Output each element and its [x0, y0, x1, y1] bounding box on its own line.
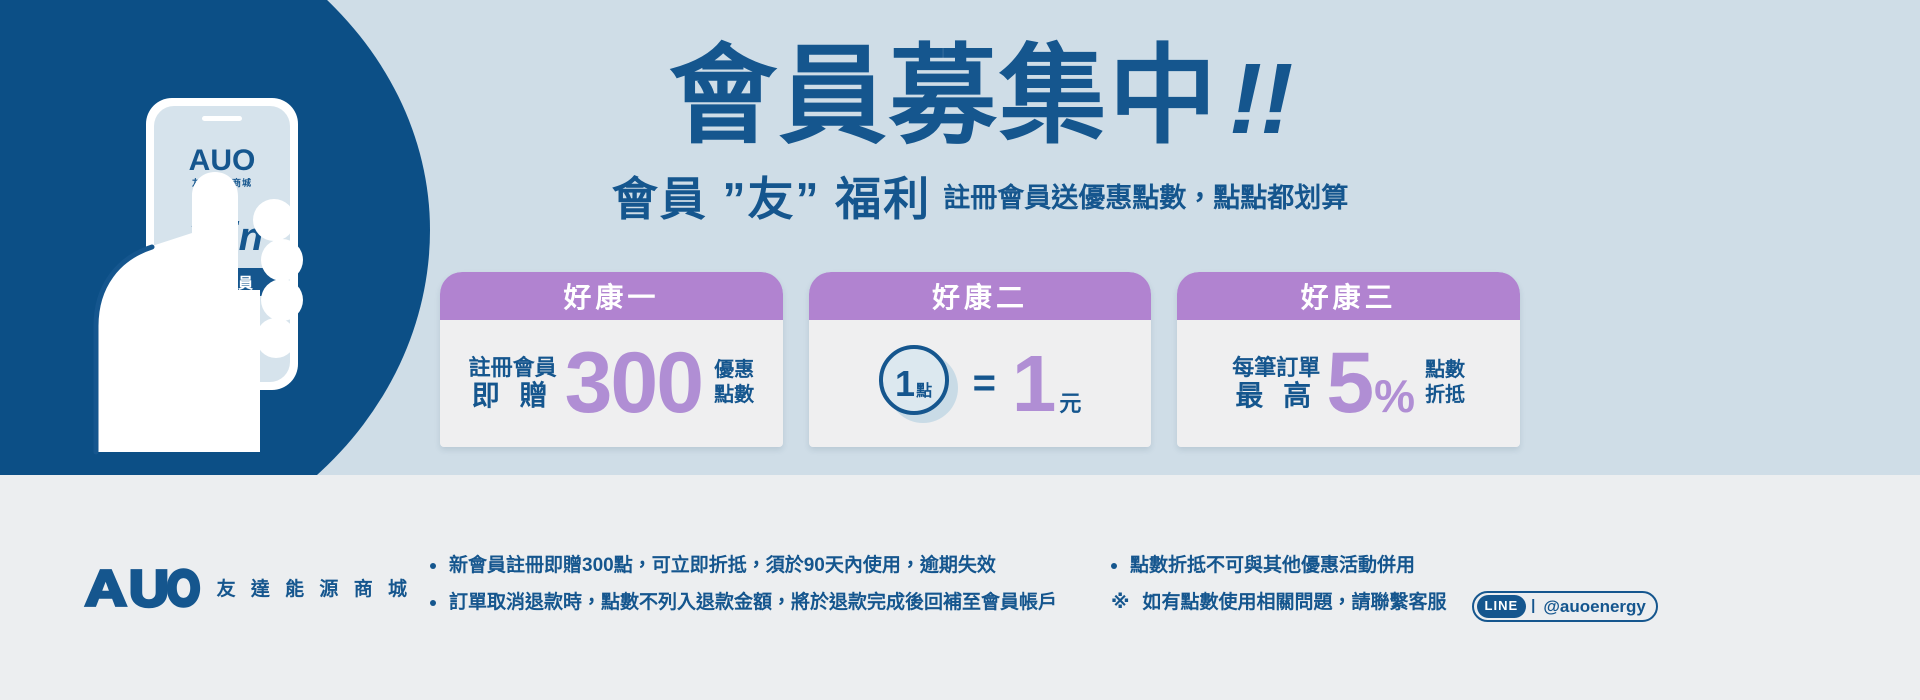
benefit-card-3-label-line2: 最 高: [1232, 380, 1320, 411]
benefit-card-2-value: 1: [1012, 348, 1057, 420]
line-account-id: @auoenergy: [1543, 596, 1646, 617]
benefit-card-3-header: 好康三: [1177, 272, 1520, 320]
subheadline-detail: 註冊會員送優惠點數，點點都划算: [943, 183, 1348, 213]
footer-note-text: 新會員註冊即贈300點，可立即折抵，須於90天內使用，逾期失效: [449, 554, 996, 578]
benefit-card-3-label-line1: 每筆訂單: [1232, 356, 1320, 381]
benefit-card-3-suffix-line2: 折抵: [1425, 383, 1465, 408]
footer-note-item: 訂單取消退款時，點數不列入退款金額，將於退款完成後回補至會員帳戶: [430, 591, 1057, 615]
auo-logo-icon: [82, 565, 201, 611]
footer-note-text: 訂單取消退款時，點數不列入退款金額，將於退款完成後回補至會員帳戶: [449, 591, 1057, 615]
bullet-dot-icon: [430, 600, 436, 606]
benefit-card-2-coin-number: 1: [895, 366, 915, 402]
footer-note-item: 點數折抵不可與其他優惠活動併用: [1111, 554, 1658, 578]
page-title: 會員募集中!!: [560, 38, 1400, 155]
headline-block: 會員募集中!! 會員 ”友” 福利註冊會員送優惠點數，點點都划算: [560, 38, 1400, 229]
subheadline-main: 會員 ”友” 福利: [612, 173, 932, 225]
benefit-card-2-equals: =: [973, 361, 996, 406]
point-coin-icon: 1 點: [879, 345, 957, 423]
benefit-card-1-suffix-line2: 點數: [714, 383, 754, 408]
benefit-card-1-number: 300: [565, 344, 703, 423]
headline-exclamation: !!: [1229, 43, 1292, 155]
headline-text: 會員募集中: [669, 35, 1219, 156]
benefit-card-3-suffix-line1: 點數: [1425, 358, 1465, 383]
brand-name: 友 達 能 源 商 城: [217, 574, 412, 601]
footer-note-text: 如有點數使用相關問題，請聯繫客服: [1143, 591, 1447, 615]
benefit-card-3-body: 每筆訂單 最 高 5 % 點數 折抵: [1177, 320, 1520, 447]
bullet-dot-icon: [430, 563, 436, 569]
line-separator: |: [1531, 597, 1535, 616]
subheadline: 會員 ”友” 福利註冊會員送優惠點數，點點都划算: [560, 163, 1400, 229]
benefit-card-1-header: 好康一: [440, 272, 783, 320]
benefit-card-1-suffix: 優惠 點數: [714, 358, 754, 408]
footer-note-item: ※ 如有點數使用相關問題，請聯繫客服 LINE | @auoenergy: [1111, 591, 1658, 621]
benefit-card-2: 好康二 1 點 = 1 元: [809, 272, 1152, 447]
footer-notes-left: 新會員註冊即贈300點，可立即折抵，須於90天內使用，逾期失效 訂單取消退款時，…: [430, 554, 1057, 622]
benefit-cards: 好康一 註冊會員 即 贈 300 優惠 點數 好康二: [440, 272, 1520, 447]
brand-logo: 友 達 能 源 商 城: [82, 565, 412, 611]
benefit-card-1-label-line2: 即 贈: [469, 380, 557, 411]
benefit-card-1: 好康一 註冊會員 即 贈 300 優惠 點數: [440, 272, 783, 447]
line-contact-badge[interactable]: LINE | @auoenergy: [1472, 591, 1658, 621]
footer-note-text: 點數折抵不可與其他優惠活動併用: [1130, 554, 1415, 578]
promo-banner: AUO 友達能源商城 Join 加入會員 會員募集中!! 會員 ”友” 福利註冊…: [0, 0, 1920, 700]
benefit-card-1-suffix-line1: 優惠: [714, 358, 754, 383]
benefit-card-1-label: 註冊會員 即 贈: [469, 356, 557, 412]
benefit-card-3-suffix: 點數 折抵: [1425, 358, 1465, 408]
footer-note-item: 新會員註冊即贈300點，可立即折抵，須於90天內使用，逾期失效: [430, 554, 1057, 578]
svg-text:AUO: AUO: [189, 144, 256, 177]
benefit-card-2-value-unit: 元: [1059, 386, 1081, 418]
benefit-card-3-label: 每筆訂單 最 高: [1232, 356, 1320, 412]
footer-notes-right: 點數折抵不可與其他優惠活動併用 ※ 如有點數使用相關問題，請聯繫客服 LINE …: [1111, 554, 1658, 622]
benefit-card-3-percent: %: [1374, 375, 1415, 417]
benefit-card-3: 好康三 每筆訂單 最 高 5 % 點數 折抵: [1177, 272, 1520, 447]
benefit-card-1-body: 註冊會員 即 贈 300 優惠 點數: [440, 320, 783, 447]
line-logo-icon: LINE: [1477, 595, 1527, 617]
benefit-card-2-header: 好康二: [809, 272, 1152, 320]
footer-notes: 新會員註冊即贈300點，可立即折抵，須於90天內使用，逾期失效 訂單取消退款時，…: [430, 554, 1658, 622]
benefit-card-2-body: 1 點 = 1 元: [809, 320, 1152, 447]
benefit-card-1-label-line1: 註冊會員: [469, 356, 557, 381]
benefit-card-3-number: 5: [1326, 344, 1374, 423]
footer-bar: 友 達 能 源 商 城 新會員註冊即贈300點，可立即折抵，須於90天內使用，逾…: [0, 475, 1920, 700]
asterisk-mark-icon: ※: [1111, 591, 1129, 615]
benefit-card-2-coin-unit: 點: [916, 384, 932, 400]
bullet-dot-icon: [1111, 563, 1117, 569]
hand-holding-phone-icon: AUO 友達能源商城 Join 加入會員: [60, 80, 420, 460]
